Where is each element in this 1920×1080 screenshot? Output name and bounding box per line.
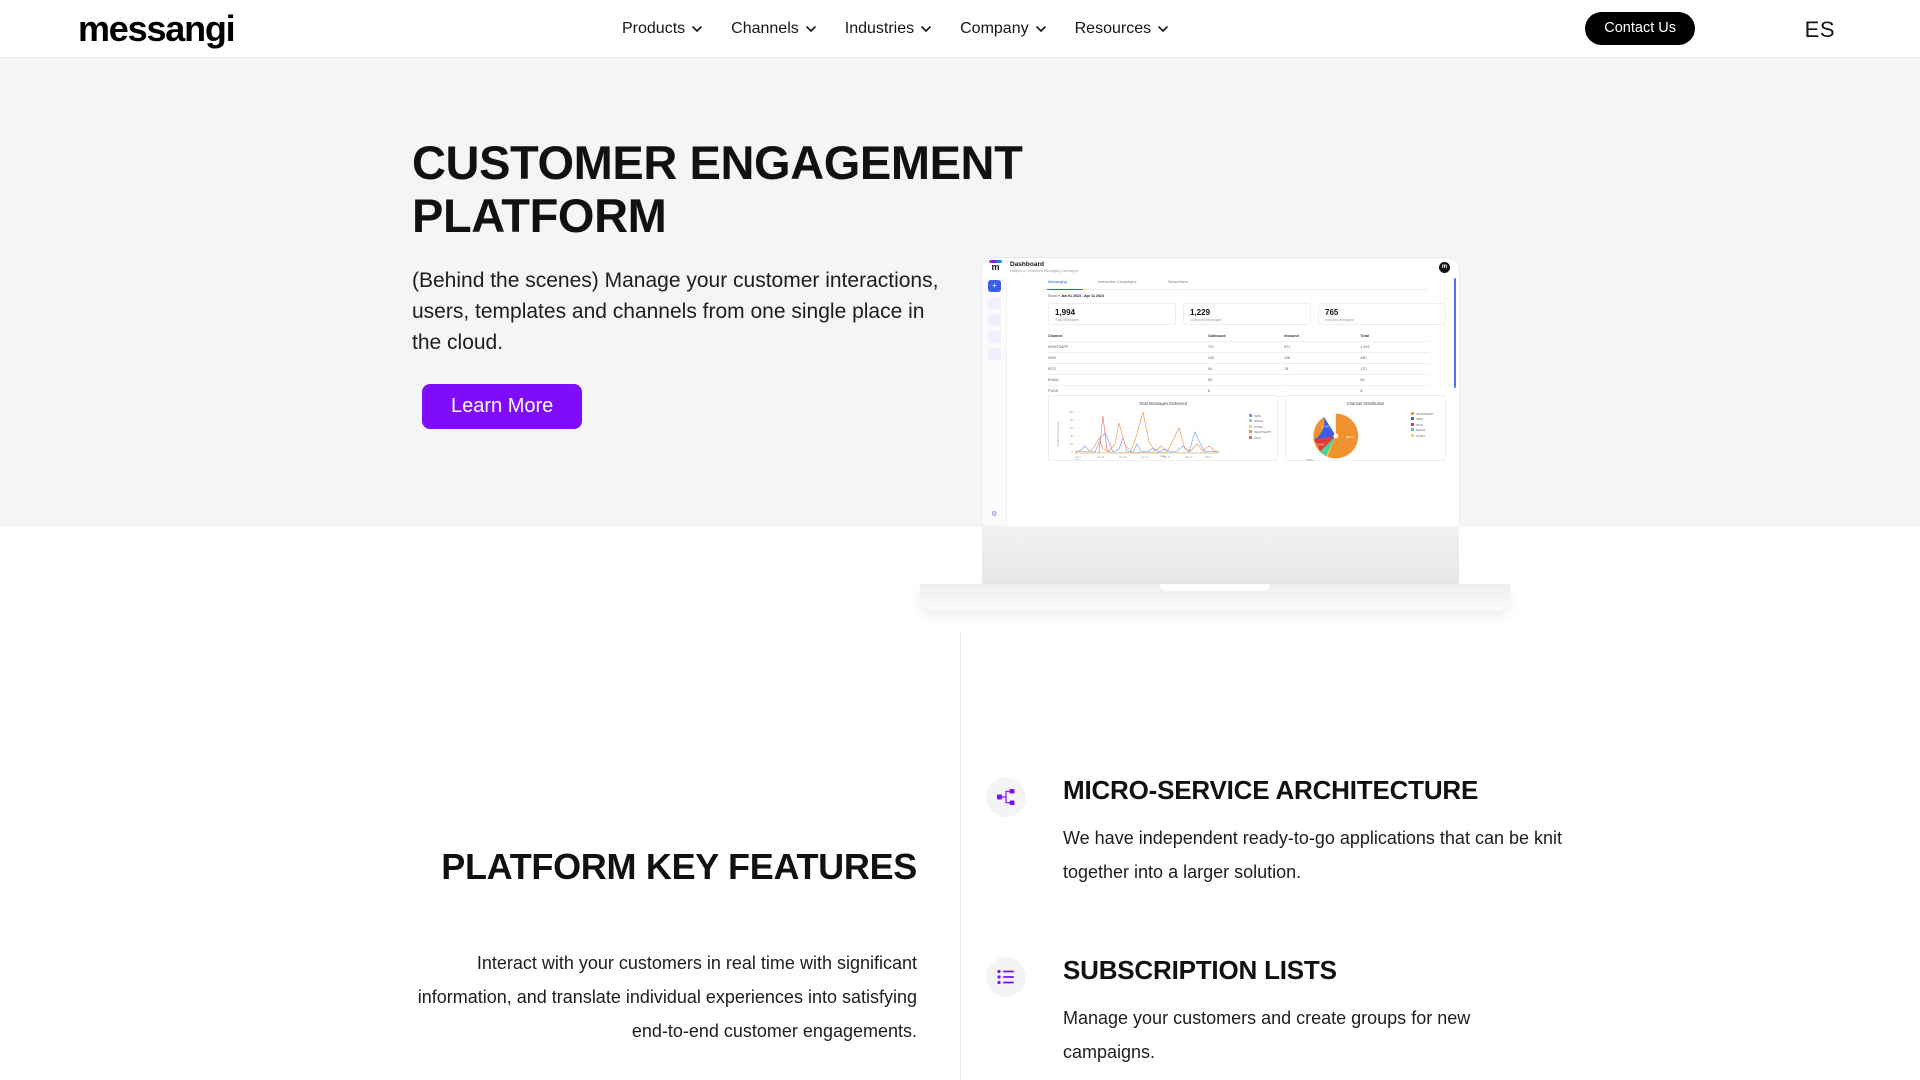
features-section-title: PLATFORM KEY FEATURES (357, 845, 917, 889)
tab-interactive-campaigns[interactable]: Interactive Campaigns (1098, 279, 1137, 284)
cell-inbound: 118 (1284, 356, 1360, 360)
column-header: Channel (1048, 334, 1208, 338)
dashboard-tabs: Messaging Interactive Campaigns Subscrib… (1048, 279, 1188, 284)
pie-chart: 65.1% 23.2% 7.92% 3.82% (1292, 408, 1402, 464)
cell-total: 62 (1360, 378, 1429, 382)
tab-active-indicator (1047, 289, 1083, 290)
laptop-mockup: + ⚙ m Dashboard Insights of Completed Me… (920, 258, 1520, 608)
date-range-prefix: Show (1048, 294, 1057, 298)
laptop-base (982, 526, 1459, 586)
nav-label: Industries (845, 19, 914, 39)
feature-body: We have independent ready-to-go applicat… (1063, 821, 1563, 889)
stat-card-inbound: 765 Inbound Messages (1318, 303, 1446, 325)
stat-label: Inbound Messages (1325, 318, 1354, 322)
dashboard-description: Insights of Completed Messaging Campaign… (1010, 269, 1078, 273)
svg-text:Number Of Messages: Number Of Messages (1056, 421, 1060, 447)
column-header: Outbound (1208, 334, 1284, 338)
cell-outbound: 342 (1208, 356, 1284, 360)
cell-channel: SMS (1048, 356, 1208, 360)
cell-total: 170 (1360, 367, 1429, 371)
site-header: messangi Products Channels Industries Co… (0, 0, 1920, 58)
stat-card-outbound: 1,229 Outbound Messages (1183, 303, 1311, 325)
chart-title: Channel Distribution (1286, 401, 1445, 406)
dashboard-logo: m (988, 261, 1003, 274)
table-row: SMS 342 118 460 (1048, 353, 1429, 364)
hero-subtitle: (Behind the scenes) Manage your customer… (412, 265, 957, 358)
pie-chart-legend: WHATSAPP SMS RCS EMAIL PUSH (1411, 412, 1433, 439)
chevron-down-icon (1036, 24, 1046, 34)
cell-channel: EMAIL (1048, 378, 1208, 382)
cell-channel: PUSH (1048, 389, 1208, 393)
nav-item-channels[interactable]: Channels (731, 19, 816, 39)
table-row: RCS 94 76 170 (1048, 364, 1429, 375)
chevron-down-icon (921, 24, 931, 34)
main-navigation: Products Channels Industries Company Res… (622, 0, 1168, 58)
cell-outbound: 8 (1208, 389, 1284, 393)
svg-text:100: 100 (1069, 410, 1074, 414)
cell-inbound: 571 (1284, 345, 1360, 349)
tab-messaging[interactable]: Messaging (1048, 279, 1067, 284)
tab-subscribers[interactable]: Subscribers (1168, 279, 1189, 284)
date-range-filter[interactable]: Show ▾ Jan 01 2023 - Apr 11 2023 (1048, 294, 1104, 298)
table-header-row: Channel Outbound Inbound Total (1048, 331, 1429, 342)
stat-label: Total Messages (1055, 318, 1079, 322)
svg-text:3.82%: 3.82% (1306, 459, 1314, 462)
language-switcher[interactable]: ES (1805, 17, 1835, 43)
column-header: Inbound (1284, 334, 1360, 338)
nav-label: Products (622, 19, 685, 39)
x-axis-label: Date (1049, 454, 1277, 458)
svg-text:60: 60 (1070, 426, 1073, 430)
nav-label: Channels (731, 19, 799, 39)
table-row: EMAIL 62 - 62 (1048, 375, 1429, 386)
cell-total: 460 (1360, 356, 1429, 360)
sidebar-item-analytics[interactable] (988, 297, 1001, 309)
stat-value: 765 (1325, 308, 1338, 317)
laptop-notch (1160, 584, 1270, 591)
chart-title: Total Messages Delivered (1049, 401, 1277, 406)
sidebar-item-campaigns[interactable] (988, 314, 1001, 326)
cell-total: 8 (1360, 389, 1429, 393)
stat-value: 1,229 (1190, 308, 1210, 317)
sidebar-add-button[interactable]: + (988, 280, 1001, 292)
feature-title: SUBSCRIPTION LISTS (1063, 955, 1337, 986)
stat-card-total: 1,994 Total Messages (1048, 303, 1176, 325)
line-chart-legend: SMS EMAIL PUSH WHATSAPP RCS (1249, 414, 1271, 441)
learn-more-button[interactable]: Learn More (422, 384, 582, 429)
section-divider (960, 632, 961, 1080)
legend-item: RCS (1249, 436, 1271, 441)
logo[interactable]: messangi (78, 8, 234, 50)
cell-outbound: 62 (1208, 378, 1284, 382)
chevron-down-icon (806, 24, 816, 34)
sidebar-item-contacts[interactable] (988, 348, 1001, 360)
svg-text:7.92%: 7.92% (1317, 443, 1325, 446)
table-row: WHATSAPP 721 571 1,292 (1048, 342, 1429, 353)
nav-item-resources[interactable]: Resources (1075, 19, 1168, 39)
cell-channel: WHATSAPP (1048, 345, 1208, 349)
cell-channel: RCS (1048, 367, 1208, 371)
chevron-down-icon (692, 24, 702, 34)
sitemap-icon (986, 777, 1026, 817)
line-chart-card: Total Messages Delivered 1008060 40200 (1048, 395, 1278, 461)
svg-text:65.1%: 65.1% (1346, 435, 1354, 439)
nav-label: Resources (1075, 19, 1151, 39)
dashboard-title: Dashboard (1010, 261, 1044, 268)
gear-icon[interactable]: ⚙ (991, 510, 997, 518)
stat-label: Outbound Messages (1190, 318, 1221, 322)
svg-text:2023: 2023 (1075, 459, 1081, 460)
feature-body: Manage your customers and create groups … (1063, 1001, 1563, 1069)
laptop-screen: + ⚙ m Dashboard Insights of Completed Me… (982, 258, 1459, 526)
page-title: CUSTOMER ENGAGEMENT PLATFORM (412, 136, 1132, 242)
pie-chart-card: Channel Distribution 65.1% 23.2% 7.92% 3… (1285, 395, 1446, 461)
svg-text:80: 80 (1070, 418, 1073, 422)
contact-us-button[interactable]: Contact Us (1585, 12, 1695, 45)
cell-outbound: 721 (1208, 345, 1284, 349)
line-chart: 1008060 40200 Number Of Messages Jan 220… (1049, 408, 1279, 460)
tab-underline (1042, 289, 1429, 290)
column-header: Total (1360, 334, 1429, 338)
feature-title: MICRO-SERVICE ARCHITECTURE (1063, 775, 1478, 806)
svg-text:23.2%: 23.2% (1321, 425, 1329, 429)
svg-text:20: 20 (1070, 442, 1073, 446)
channel-table: Channel Outbound Inbound Total WHATSAPP … (1048, 331, 1429, 397)
avatar[interactable]: m (1439, 262, 1450, 273)
cell-inbound: 76 (1284, 367, 1360, 371)
chevron-down-icon (1158, 24, 1168, 34)
stat-value: 1,994 (1055, 308, 1075, 317)
scrollbar[interactable] (1454, 278, 1456, 388)
cell-outbound: 94 (1208, 367, 1284, 371)
cell-total: 1,292 (1360, 345, 1429, 349)
cell-inbound: - (1284, 389, 1360, 393)
dashboard-sidebar: + ⚙ (982, 275, 1007, 526)
cell-inbound: - (1284, 378, 1360, 382)
date-range-value: Jan 01 2023 - Apr 11 2023 (1061, 294, 1104, 298)
nav-label: Company (960, 19, 1028, 39)
legend-item: PUSH (1411, 434, 1433, 439)
sidebar-item-templates[interactable] (988, 331, 1001, 343)
nav-item-company[interactable]: Company (960, 19, 1045, 39)
nav-item-industries[interactable]: Industries (845, 19, 931, 39)
list-icon (986, 957, 1026, 997)
features-section-body: Interact with your customers in real tim… (417, 946, 917, 1048)
svg-text:40: 40 (1070, 434, 1073, 438)
dashboard-app: + ⚙ m Dashboard Insights of Completed Me… (982, 258, 1459, 526)
nav-item-products[interactable]: Products (622, 19, 702, 39)
